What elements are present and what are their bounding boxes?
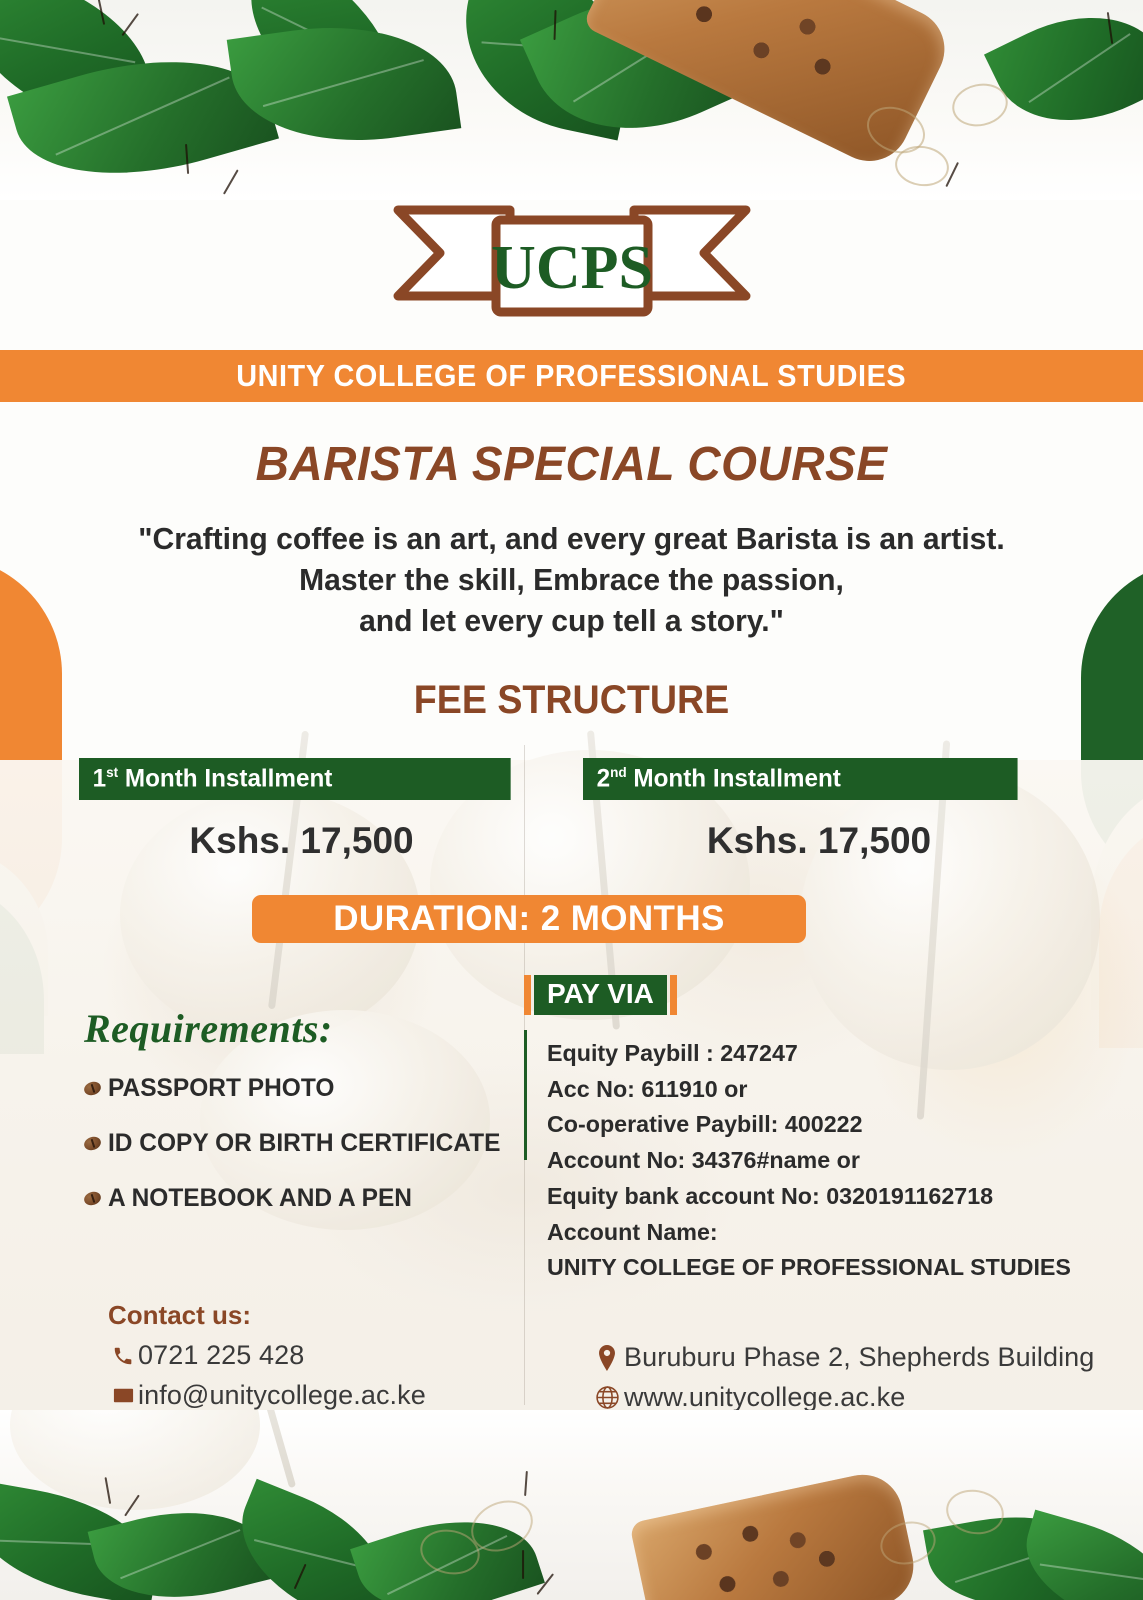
requirements-list: PASSPORT PHOTO ID COPY OR BIRTH CERTIFIC…	[84, 1074, 514, 1213]
contact-block: Contact us: 0721 225 428 info@unitycolle…	[108, 1300, 528, 1411]
coffee-bean-bullet-icon	[82, 1190, 102, 1208]
globe-www-icon	[590, 1385, 624, 1410]
installment-amount-2: Kshs. 17,500	[607, 820, 1031, 862]
pay-via-accent-right	[670, 975, 677, 1015]
coffee-bean-bullet-icon	[82, 1080, 102, 1098]
contact-website-row[interactable]: www.unitycollege.ac.ke	[590, 1382, 1143, 1413]
location-pin-icon	[590, 1345, 624, 1371]
installment-label-1: 1st Month Installment	[79, 758, 511, 800]
payment-details-list: Equity Paybill : 247247 Acc No: 611910 o…	[547, 1036, 1107, 1286]
payment-line: Account No: 34376#name or	[547, 1143, 1101, 1179]
pay-via-green-accent	[524, 1030, 527, 1160]
installment-suffix-2: nd	[610, 764, 627, 780]
contact-phone-text: 0721 225 428	[138, 1340, 304, 1371]
list-item: PASSPORT PHOTO	[84, 1074, 514, 1103]
ucps-ribbon-logo: UCPS	[392, 196, 752, 321]
payment-line: Co-operative Paybill: 400222	[547, 1107, 1101, 1143]
requirements-block: Requirements: PASSPORT PHOTO ID COPY OR …	[84, 1005, 514, 1239]
quote-line-1: "Crafting coffee is an art, and every gr…	[44, 519, 1098, 560]
pay-via-label: PAY VIA	[534, 975, 667, 1015]
fee-structure-heading: FEE STRUCTURE	[34, 678, 1108, 723]
pay-via-accent-left	[524, 975, 531, 1015]
college-name-text: UNITY COLLEGE OF PROFESSIONAL STUDIES	[237, 358, 907, 394]
logo-container: UCPS	[0, 196, 1143, 326]
coffee-bean-bullet-icon	[82, 1135, 102, 1153]
payment-line: Account Name:	[547, 1215, 1101, 1251]
contact-address-text: Buruburu Phase 2, Shepherds Building	[624, 1342, 1094, 1373]
contact-address-row[interactable]: Buruburu Phase 2, Shepherds Building	[590, 1342, 1143, 1373]
installment-block-1: 1st Month Installment Kshs. 17,500	[79, 758, 524, 862]
installment-ordinal-1: 1	[93, 764, 106, 792]
requirement-text: A NOTEBOOK AND A PEN	[108, 1184, 412, 1213]
quote-line-3: and let every cup tell a story."	[44, 601, 1098, 642]
payment-line: Equity Paybill : 247247	[547, 1036, 1101, 1072]
wooden-scoop-icon	[629, 1467, 921, 1600]
installment-suffix-1: st	[106, 764, 118, 780]
course-quote: "Crafting coffee is an art, and every gr…	[44, 519, 1098, 642]
logo-text: UCPS	[491, 234, 653, 302]
requirement-text: ID COPY OR BIRTH CERTIFICATE	[108, 1129, 500, 1158]
poster-root: UCPS UNITY COLLEGE OF PROFESSIONAL STUDI…	[0, 0, 1143, 1600]
pay-via-heading: PAY VIA	[524, 975, 677, 1015]
quote-line-2: Master the skill, Embrace the passion,	[44, 560, 1098, 601]
installment-ordinal-2: 2	[597, 764, 610, 792]
contact-phone-row[interactable]: 0721 225 428	[108, 1340, 528, 1371]
college-name-banner: UNITY COLLEGE OF PROFESSIONAL STUDIES	[0, 350, 1143, 402]
requirements-title: Requirements:	[84, 1005, 514, 1052]
coffee-bean-icon	[504, 1466, 547, 1501]
course-title: BARISTA SPECIAL COURSE	[23, 437, 1120, 492]
list-item: A NOTEBOOK AND A PEN	[84, 1184, 514, 1213]
installment-label-text-2: Month Installment	[627, 764, 841, 792]
installment-label-text-1: Month Installment	[118, 764, 332, 792]
payment-line: UNITY COLLEGE OF PROFESSIONAL STUDIES	[547, 1250, 1101, 1286]
payment-line: Equity bank account No: 0320191162718	[547, 1179, 1101, 1215]
duration-text: DURATION: 2 MONTHS	[333, 899, 725, 939]
contact-title: Contact us:	[108, 1300, 528, 1331]
requirement-text: PASSPORT PHOTO	[108, 1074, 334, 1103]
contact-email-row[interactable]: info@unitycollege.ac.ke	[108, 1380, 528, 1411]
duration-banner: DURATION: 2 MONTHS	[252, 895, 806, 943]
contact-email-text: info@unitycollege.ac.ke	[138, 1380, 426, 1411]
coffee-bean-icon	[203, 157, 258, 200]
phone-icon	[108, 1345, 138, 1367]
address-block: Buruburu Phase 2, Shepherds Building www…	[590, 1333, 1143, 1413]
installment-label-2: 2nd Month Installment	[583, 758, 1018, 800]
bottom-decoration-band	[0, 1410, 1143, 1600]
installment-block-2: 2nd Month Installment Kshs. 17,500	[583, 758, 1031, 862]
list-item: ID COPY OR BIRTH CERTIFICATE	[84, 1129, 514, 1158]
installment-amount-1: Kshs. 17,500	[79, 820, 524, 862]
envelope-icon	[108, 1384, 138, 1407]
contact-website-text: www.unitycollege.ac.ke	[624, 1382, 905, 1413]
payment-line: Acc No: 611910 or	[547, 1072, 1101, 1108]
top-decoration-band	[0, 0, 1143, 200]
